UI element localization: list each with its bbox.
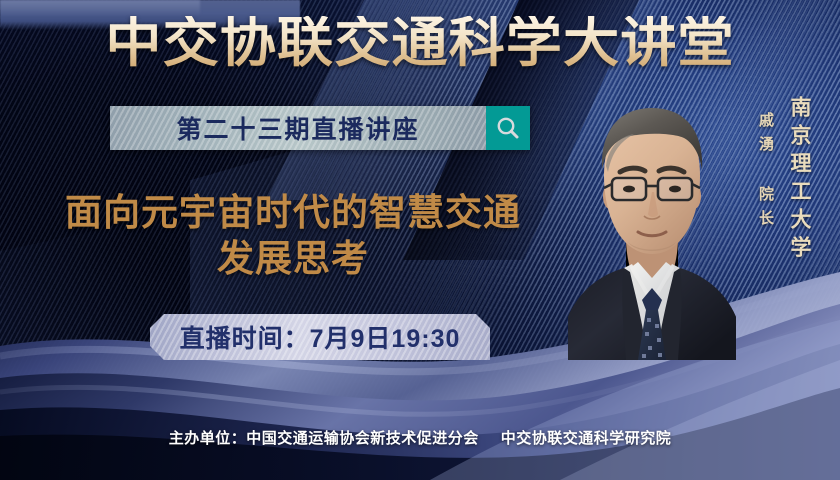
episode-label-container: 第二十三期直播讲座 [110,106,486,150]
poster-title: 中交协联交通科学大讲堂 [0,16,840,70]
speaker-portrait [568,92,736,360]
footer-institute: 中交协联交通科学研究院 [501,430,672,447]
speaker-name-title: 戚湧 院长 [755,112,776,234]
episode-label: 第二十三期直播讲座 [176,110,419,146]
footer-organizer-label: 主办单位：中国交通运输协会新技术促进分会 [169,430,479,447]
livestream-promo-poster: 中交协联交通科学大讲堂 第二十三期直播讲座 面向元宇宙时代的智慧交通 发展思考 … [0,0,840,480]
broadcast-time-badge: 直播时间：7月9日19:30 [150,314,490,360]
footer-organizers: 主办单位：中国交通运输协会新技术促进分会中交协联交通科学研究院 [0,427,840,448]
headline-line-2: 发展思考 [28,236,558,282]
speaker-university: 南京理工大学 [784,96,814,264]
search-icon[interactable] [486,106,530,150]
broadcast-time-label: 直播时间：7月9日19:30 [180,319,461,355]
episode-subtitle-bar: 第二十三期直播讲座 [110,106,530,150]
headline-line-1: 面向元宇宙时代的智慧交通 [28,190,558,236]
lecture-headline: 面向元宇宙时代的智慧交通 发展思考 [28,190,558,283]
